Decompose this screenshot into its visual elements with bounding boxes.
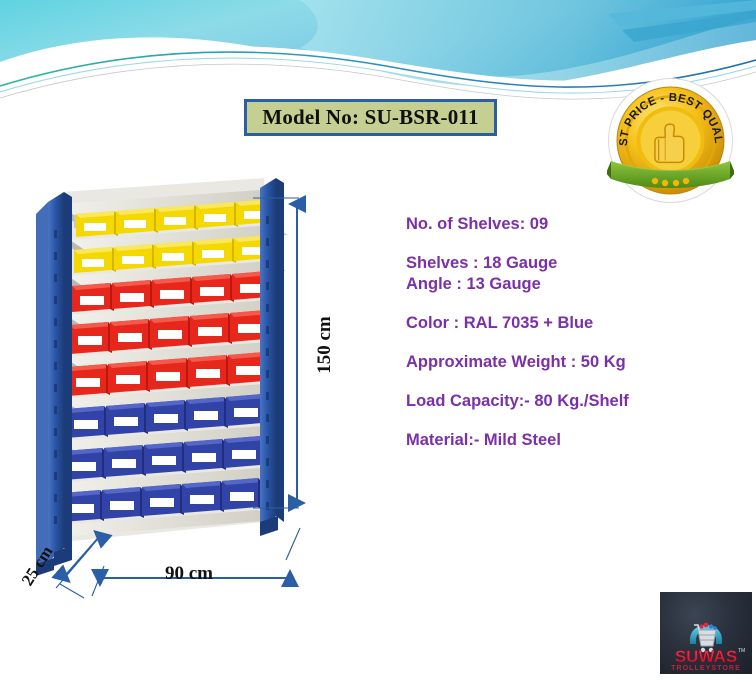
bin-storage-rack-image bbox=[14, 170, 344, 600]
spec-material: Material:- Mild Steel bbox=[406, 430, 742, 451]
suwas-trolleystore-logo: SUWAS TM TROLLEYSTORE bbox=[660, 592, 752, 674]
dimension-height-label: 150 cm bbox=[314, 316, 336, 374]
dimension-width-label: 90 cm bbox=[165, 563, 213, 585]
logo-tagline-text: TROLLEYSTORE bbox=[671, 665, 741, 672]
spec-shelves-gauge: Shelves : 18 Gauge bbox=[406, 253, 742, 274]
rack-upright-rear-left bbox=[36, 202, 48, 572]
rack-upright-front-left bbox=[48, 192, 72, 562]
spec-color: Color : RAL 7035 + Blue bbox=[406, 313, 742, 334]
spec-angle-gauge: Angle : 13 Gauge bbox=[406, 274, 742, 295]
logo-brand-text: SUWAS bbox=[675, 647, 737, 666]
product-sheet-page: Model No: SU-BSR-011 bbox=[0, 0, 756, 677]
rack-upright-front-right bbox=[260, 178, 284, 530]
model-number-text: Model No: SU-BSR-011 bbox=[262, 105, 478, 130]
spec-shelf-count: No. of Shelves: 09 bbox=[406, 214, 742, 235]
spec-load-capacity: Load Capacity:- 80 Kg./Shelf bbox=[406, 391, 742, 412]
spec-weight: Approximate Weight : 50 Kg bbox=[406, 352, 742, 373]
specification-list: No. of Shelves: 09 Shelves : 18 Gauge An… bbox=[406, 214, 742, 469]
model-number-box: Model No: SU-BSR-011 bbox=[244, 99, 497, 136]
logo-trademark: TM bbox=[738, 648, 745, 654]
best-price-best-quality-seal: BEST PRICE - BEST QUALITY bbox=[607, 77, 734, 204]
